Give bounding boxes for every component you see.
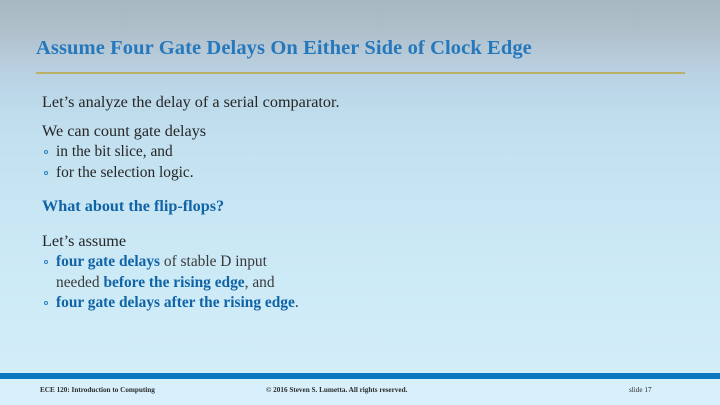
circle-bullet-icon <box>44 301 48 305</box>
title-divider <box>36 72 685 74</box>
emphasis-four-gate-delays: four gate delays <box>56 253 160 270</box>
footer-course-label: ECE 120: Introduction to Computing <box>40 386 155 394</box>
footer-slide-number: slide 17 <box>629 386 652 394</box>
body-line-count-delays: We can count gate delays <box>42 121 692 143</box>
list-item-period: . <box>295 294 299 311</box>
circle-bullet-icon <box>44 171 48 175</box>
body-line-intro: Let’s analyze the delay of a serial comp… <box>42 92 692 114</box>
body-question-flip-flops: What about the flip-flops? <box>42 196 692 218</box>
list-item-label: of stable D input <box>160 253 267 270</box>
title-area: Assume Four Gate Delays On Either Side o… <box>36 38 686 60</box>
circle-bullet-icon <box>44 260 48 264</box>
list-item-hold-time: four gate delays after the rising edge. <box>42 293 692 314</box>
list-item-selection-logic: for the selection logic. <box>42 163 692 184</box>
list-item-label: in the bit slice, and <box>56 143 173 160</box>
emphasis-four-gate-delays-after: four gate delays after the rising edge <box>56 294 295 311</box>
continuation-prefix: needed <box>56 274 103 291</box>
footer-copyright-label: © 2016 Steven S. Lumetta. All rights res… <box>266 386 407 394</box>
circle-bullet-icon <box>44 150 48 154</box>
list-item-continuation: needed before the rising edge, and <box>56 273 692 294</box>
slide: Assume Four Gate Delays On Either Side o… <box>0 0 720 405</box>
list-item-setup-time: four gate delays of stable D input neede… <box>42 252 692 293</box>
body-line-lets-assume: Let’s assume <box>42 231 692 253</box>
page-title: Assume Four Gate Delays On Either Side o… <box>36 38 686 60</box>
emphasis-before-rising-edge: before the rising edge <box>103 274 244 291</box>
list-item-bit-slice: in the bit slice, and <box>42 142 692 163</box>
slide-body: Let’s analyze the delay of a serial comp… <box>42 92 692 314</box>
list-item-label: for the selection logic. <box>56 164 194 181</box>
continuation-suffix: , and <box>245 274 275 291</box>
